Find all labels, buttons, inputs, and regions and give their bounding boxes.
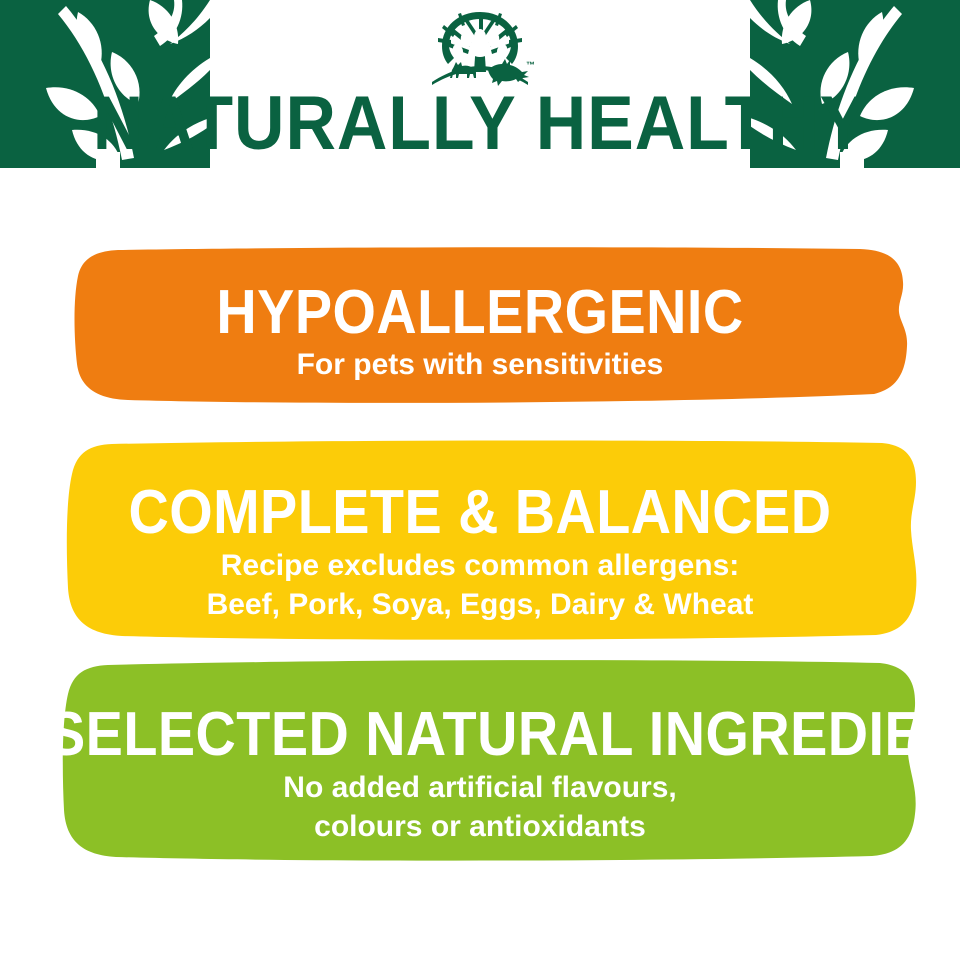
feature-banner-hypoallergenic: HYPOALLERGENIC For pets with sensitiviti… xyxy=(0,246,960,406)
banner-heading: SELECTED NATURAL INGREDIENTS xyxy=(48,702,912,768)
banner-text-block: SELECTED NATURAL INGREDIENTS No added ar… xyxy=(0,702,960,846)
banner-subtitle-line: Recipe excludes common allergens: xyxy=(0,546,960,585)
banner-text-block: HYPOALLERGENIC For pets with sensitiviti… xyxy=(0,280,960,384)
page-title: NATURALLY HEALTHY xyxy=(38,84,921,164)
promo-graphic: ™ NATURALLY HEALTHY HYPOALLERGENIC For p… xyxy=(0,0,960,960)
banner-text-block: COMPLETE & BALANCED Recipe excludes comm… xyxy=(0,480,960,624)
banner-subtitle-line: colours or antioxidants xyxy=(0,807,960,846)
tree-paw-cat-dog-logo-icon: ™ xyxy=(418,8,542,90)
banner-heading: COMPLETE & BALANCED xyxy=(48,480,912,546)
banner-subtitle-line: No added artificial flavours, xyxy=(0,768,960,807)
banner-subtitle-line: Beef, Pork, Soya, Eggs, Dairy & Wheat xyxy=(0,585,960,624)
banner-heading: HYPOALLERGENIC xyxy=(48,280,912,346)
feature-banner-complete-balanced: COMPLETE & BALANCED Recipe excludes comm… xyxy=(0,438,960,643)
trademark-symbol: ™ xyxy=(526,60,535,70)
banner-subtitle-line: For pets with sensitivities xyxy=(0,346,960,384)
feature-banner-selected-ingredients: SELECTED NATURAL INGREDIENTS No added ar… xyxy=(0,658,960,863)
